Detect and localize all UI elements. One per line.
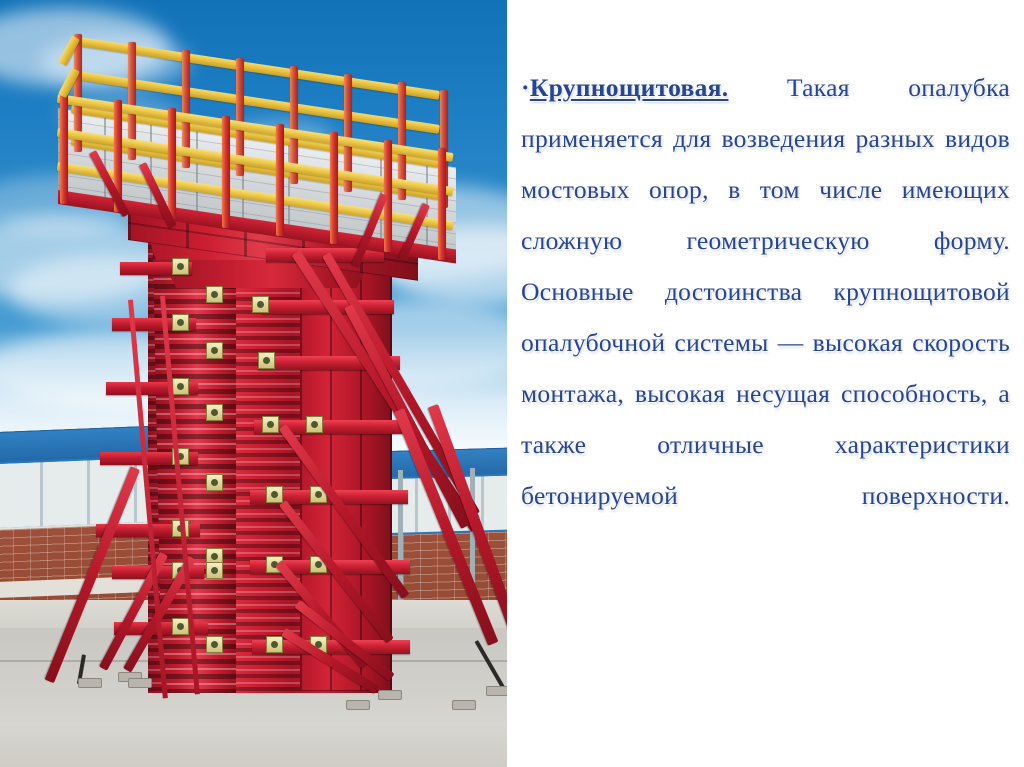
- guardrail-post: [276, 124, 284, 236]
- tie-plate: [206, 342, 223, 359]
- prop-base-plate: [378, 690, 402, 700]
- tie-plate: [252, 296, 269, 313]
- tie-plate: [262, 416, 279, 433]
- body-paragraph: ·Крупнощитовая. Такая опалубка применяет…: [521, 62, 1010, 572]
- tie-plate: [172, 618, 189, 635]
- prop-base-plate: [486, 686, 507, 696]
- guardrail-post: [60, 92, 68, 204]
- guardrail-post: [330, 132, 338, 244]
- guardrail-post: [168, 108, 176, 220]
- prop-base-plate: [128, 678, 152, 688]
- tie-plate: [306, 416, 323, 433]
- guardrail-post: [222, 116, 230, 228]
- lead-term: Крупнощитовая.: [530, 73, 729, 102]
- guardrail-top: [71, 36, 440, 100]
- tie-plate: [206, 474, 223, 491]
- tie-plate: [266, 636, 283, 653]
- tie-plate: [206, 286, 223, 303]
- text-panel: ·Крупнощитовая. Такая опалубка применяет…: [507, 0, 1024, 767]
- bullet-marker: ·: [521, 73, 530, 102]
- prop-base-plate: [452, 700, 476, 710]
- tie-plate: [206, 636, 223, 653]
- slide-root: ·Крупнощитовая. Такая опалубка применяет…: [0, 0, 1024, 767]
- tie-plate: [258, 352, 275, 369]
- formwork-tower: [0, 0, 507, 767]
- prop-base-plate: [78, 678, 102, 688]
- guardrail-post: [438, 148, 446, 260]
- tie-plate: [172, 258, 189, 275]
- tie-plate: [172, 314, 189, 331]
- tie-plate: [206, 562, 223, 579]
- prop-base-plate: [346, 700, 370, 710]
- tie-plate: [172, 378, 189, 395]
- tie-plate: [206, 404, 223, 421]
- paragraph-body: Такая опалубка применяется для возведени…: [521, 73, 1010, 510]
- tie-plate: [266, 486, 283, 503]
- formwork-photo: [0, 0, 507, 767]
